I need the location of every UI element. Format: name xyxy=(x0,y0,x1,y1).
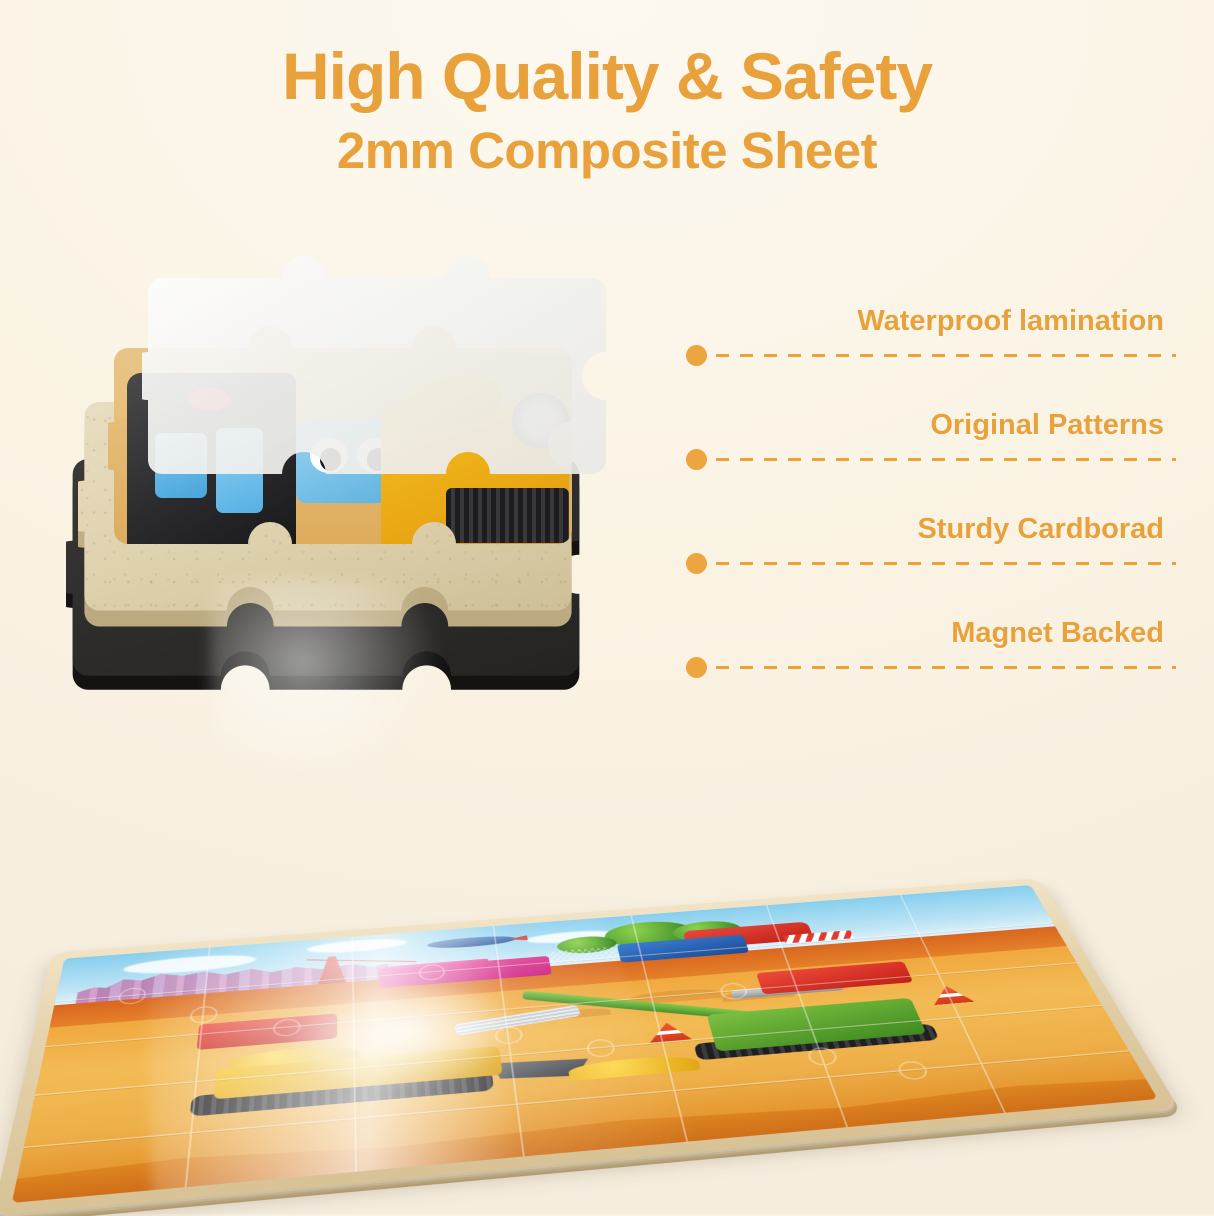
bullet-dot-icon xyxy=(686,449,707,470)
heading-block: High Quality & Safety 2mm Composite Shee… xyxy=(0,42,1214,181)
feature-label: Sturdy Cardborad xyxy=(917,513,1164,546)
feature-dashed-line xyxy=(716,458,1176,461)
bullet-dot-icon xyxy=(686,553,707,574)
product-photo-area xyxy=(0,650,1214,1214)
feature-label: Magnet Backed xyxy=(951,617,1164,650)
feature-list: Waterproof lamination Original Patterns … xyxy=(686,262,1186,678)
page-subtitle: 2mm Composite Sheet xyxy=(0,120,1214,181)
feature-item-original-patterns: Original Patterns xyxy=(686,366,1186,470)
feature-item-sturdy-cardborad: Sturdy Cardborad xyxy=(686,470,1186,574)
puzzle-board xyxy=(0,878,1179,1216)
feature-label: Waterproof lamination xyxy=(857,305,1164,338)
waterproof-lamination-layer xyxy=(142,248,612,498)
lamination-film xyxy=(142,248,612,498)
bullet-dot-icon xyxy=(686,345,707,366)
feature-label: Original Patterns xyxy=(930,409,1164,442)
feature-dashed-line xyxy=(716,354,1176,357)
infographic-canvas: High Quality & Safety 2mm Composite Shee… xyxy=(0,0,1214,1214)
feature-item-waterproof-lamination: Waterproof lamination xyxy=(686,262,1186,366)
page-title: High Quality & Safety xyxy=(0,42,1214,112)
feature-dashed-line xyxy=(716,562,1176,565)
exploded-layers-diagram xyxy=(60,248,680,698)
